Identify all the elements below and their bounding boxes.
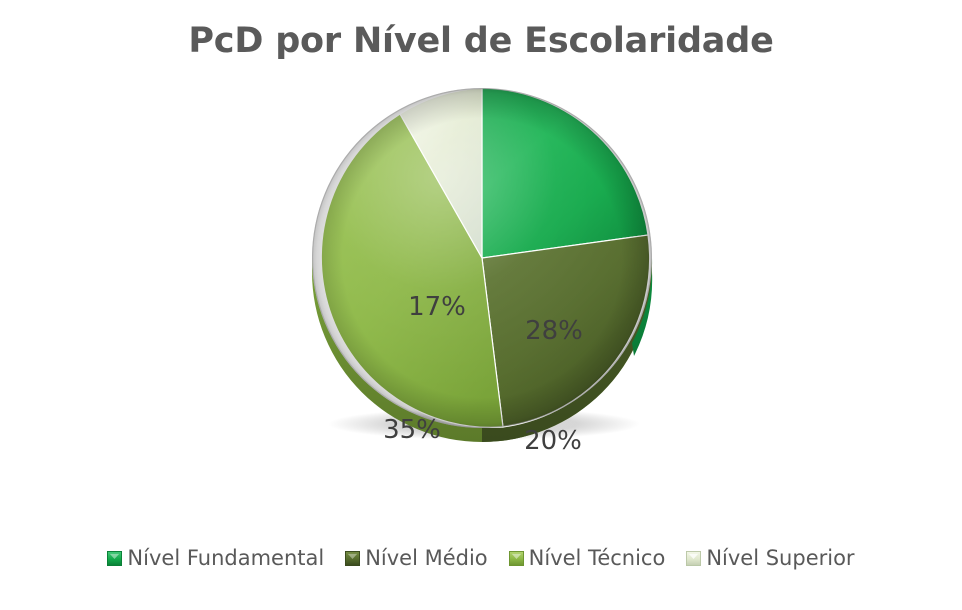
legend-item-nivel-tecnico[interactable]: Nível Técnico — [509, 548, 666, 569]
pie-edge-shade — [312, 88, 652, 428]
chart-title: PcD por Nível de Escolaridade — [188, 22, 773, 61]
legend-swatch-icon — [509, 551, 524, 566]
legend-item-label: Nível Médio — [365, 548, 487, 569]
legend-item-label: Nível Superior — [706, 548, 854, 569]
legend-item-label: Nível Técnico — [529, 548, 666, 569]
pie-chart-figure: PcD por Nível de Escolaridade — [0, 0, 962, 610]
pie-graphic — [296, 72, 668, 444]
legend-swatch-icon — [345, 551, 360, 566]
plot-area: 28% 20% 35% 17% — [0, 67, 962, 467]
legend-item-label: Nível Fundamental — [127, 548, 324, 569]
legend-item-nivel-superior[interactable]: Nível Superior — [686, 548, 854, 569]
legend-swatch-icon — [107, 551, 122, 566]
pie-svg — [296, 72, 668, 444]
legend-item-nivel-fundamental[interactable]: Nível Fundamental — [107, 548, 324, 569]
legend-swatch-icon — [686, 551, 701, 566]
legend-item-nivel-medio[interactable]: Nível Médio — [345, 548, 487, 569]
chart-legend: Nível Fundamental Nível Médio — [0, 548, 962, 569]
